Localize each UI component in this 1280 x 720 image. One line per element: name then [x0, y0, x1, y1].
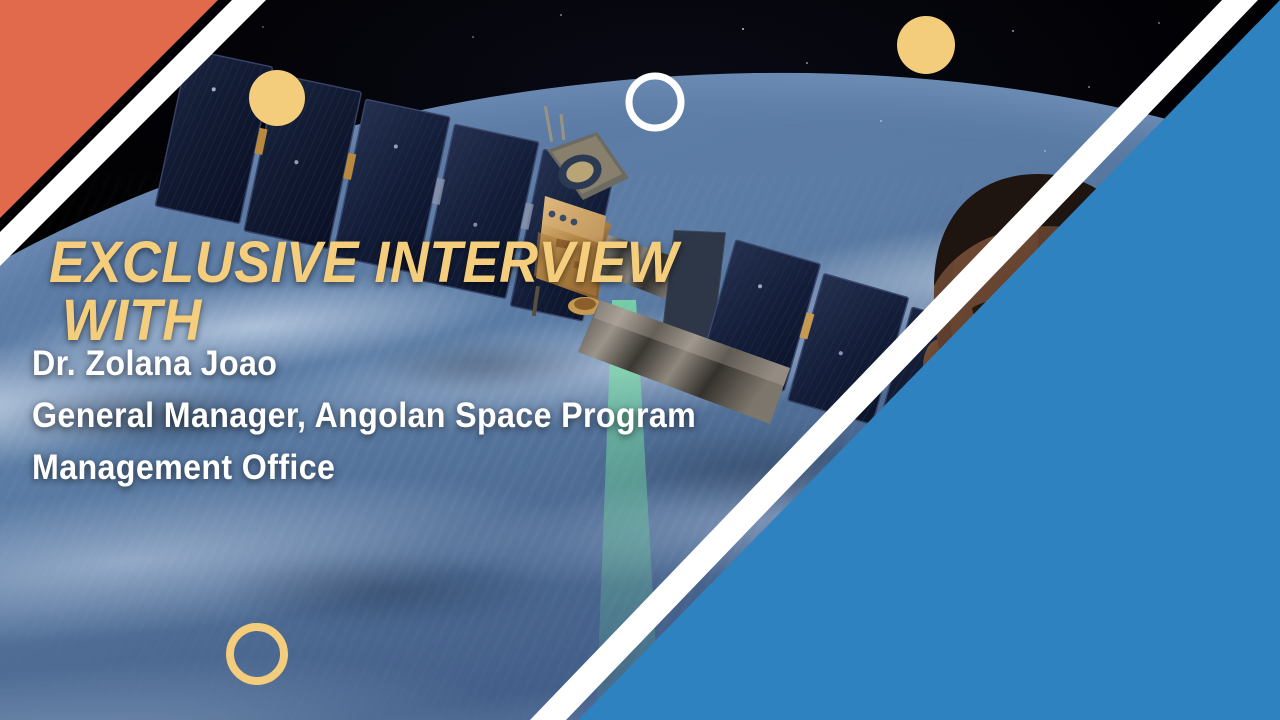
yellow-ring-circle-bottom-left	[230, 627, 284, 681]
thumbnail-canvas: Exclusive Interview With Dr. Zolana Joao…	[0, 0, 1280, 720]
yellow-filled-circle-top-right	[897, 16, 955, 74]
shirt-button	[1037, 614, 1045, 622]
shirt-button	[1040, 682, 1048, 690]
headline-line-1: Exclusive Interview	[49, 230, 678, 295]
guest-name: Dr. Zolana Joao	[32, 338, 759, 390]
yellow-filled-circle-top-left	[249, 70, 305, 126]
guest-role-line-2: Management Office	[32, 442, 759, 494]
white-ring-circle-top-center	[629, 76, 681, 128]
subtitle-block: Dr. Zolana Joao General Manager, Angolan…	[32, 338, 759, 494]
guest-role-line-1: General Manager, Angolan Space Program	[32, 390, 759, 442]
dr-zolana-joao-portrait	[790, 130, 1280, 720]
